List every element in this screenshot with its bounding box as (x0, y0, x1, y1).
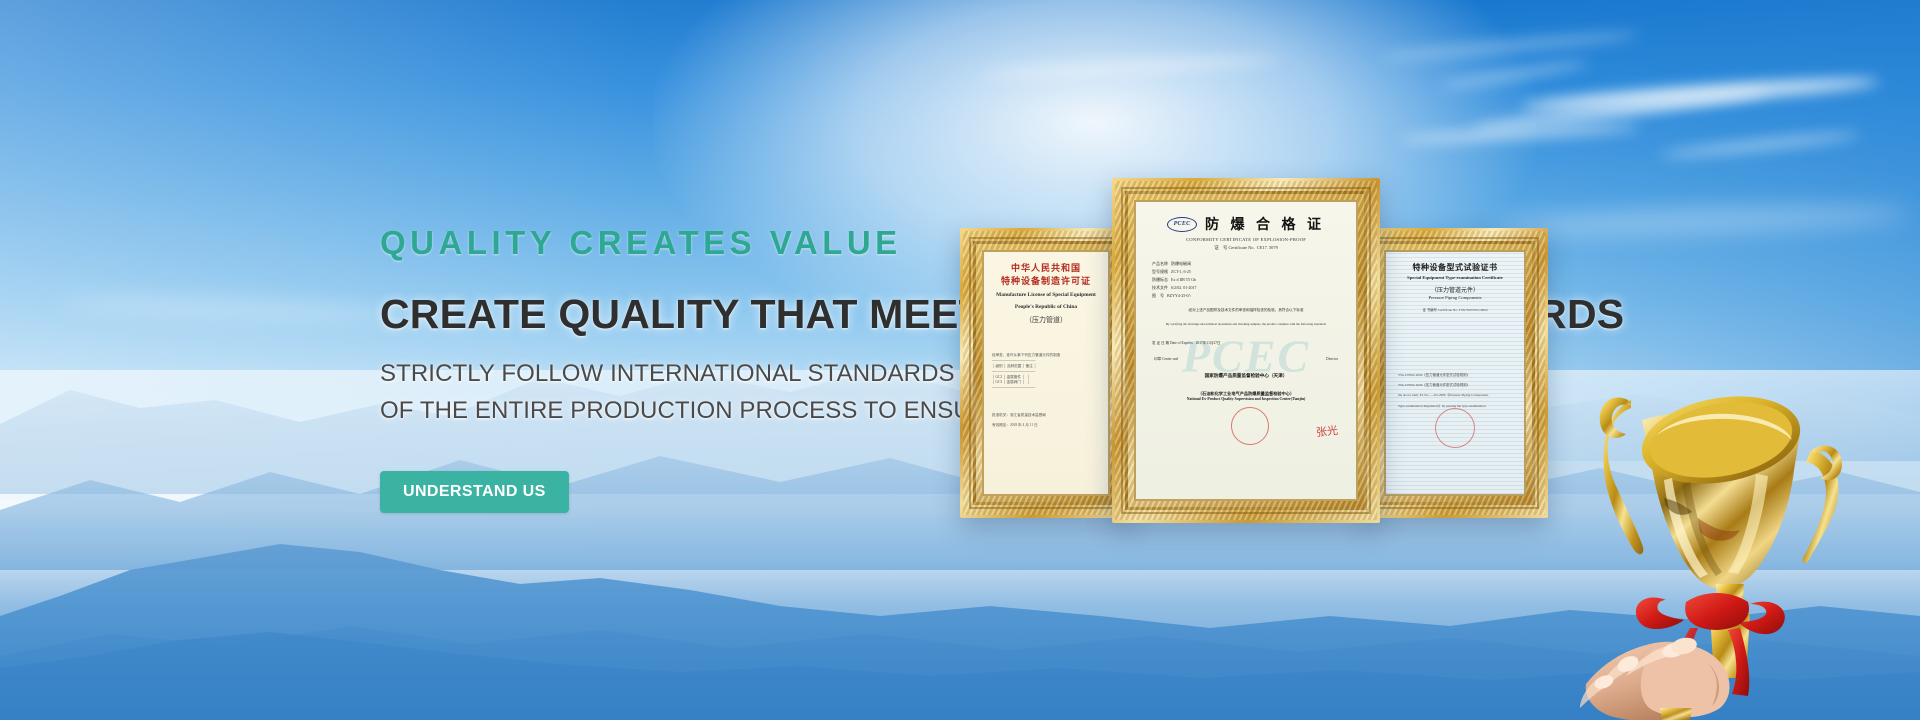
certificate-frame-explosion-proof[interactable]: PCEC 防 爆 合 格 证 CONFORMITY CERTIFICATE OF… (1112, 178, 1380, 523)
field-cn-label: 型号规格 (1152, 269, 1168, 274)
certificate-footer-line2: 有效期至：2018 年 4 月 11 日 (992, 423, 1100, 428)
certificate-header-row: PCEC 防 爆 合 格 证 (1146, 214, 1346, 234)
frame-bevel: 中华人民共和国 特种设备制造许可证 Manufacture License of… (973, 241, 1119, 505)
certificate-field-row: 产品名称 防爆电磁阀 (1152, 260, 1346, 268)
certificate-body-line: TSG D7002-2006《压力管道元件型式试验规则》 (1394, 383, 1516, 388)
certificate-director-label: Director (1326, 357, 1338, 363)
understand-us-button[interactable]: UNDERSTAND US (380, 471, 569, 513)
frame-bevel: PCEC 防 爆 合 格 证 CONFORMITY CERTIFICATE OF… (1125, 191, 1367, 510)
certificate-field-row: 技术文件 6/2/02. 01-2017 (1152, 284, 1346, 292)
field-value: Ex d IIB T5 Gb (1171, 277, 1196, 282)
field-cn-label: 防爆标志 (1152, 277, 1168, 282)
certificate-frame-type-examination[interactable]: 特种设备型式试验证书 Special Equipment Type-examin… (1362, 228, 1548, 518)
certificate-field-row: 防爆标志 Ex d IIB T5 Gb (1152, 276, 1346, 284)
certificate-body-line: the above item, Ex No. ---/02-2006《Press… (1394, 393, 1516, 398)
field-value: 6/2/02. 01-2017 (1171, 285, 1197, 290)
certificate-issuer-cn-line2: （石油和化学工业电气产品防爆质量监督检验中心） (1146, 390, 1346, 397)
certificate-footer-line1: 批准机关：浙江省质量技术监督局 (992, 413, 1100, 418)
certificate-paper: PCEC 防 爆 合 格 证 CONFORMITY CERTIFICATE OF… (1134, 200, 1358, 501)
certificate-number-label: 证 号 Certificate No. (1214, 245, 1254, 250)
field-value: ZCT-1, 6-25 (1171, 269, 1191, 274)
certificate-number-label: 证 书编号 Certificate No. (1422, 308, 1457, 312)
certificate-field-row: 图 号 BZYY4-25-0/\ (1152, 292, 1346, 300)
certificate-body-line: Type-examination Regulation》by passing t… (1394, 404, 1516, 409)
red-seal-icon (1229, 405, 1272, 448)
gold-trophy-icon (1568, 378, 1920, 720)
certificate-cn-title-line2: 特种设备制造许可证 (992, 275, 1100, 288)
certificate-cn-subtitle: （压力管道） (992, 315, 1100, 325)
certificate-number-value: CE17. 5079 (1257, 245, 1278, 250)
certificate-cn-title: 特种设备型式试验证书 (1394, 262, 1516, 274)
certificate-issuer-en: National Ex-Product Quality Supervision … (1146, 397, 1346, 401)
certificate-en-subtitle: Pressure Piping Components (1394, 294, 1516, 302)
certificate-number-value: TSX7J0072011/0004 (1459, 308, 1488, 312)
certificate-fields: 产品名称 防爆电磁阀 型号规格 ZCT-1, 6-25 防爆标志 Ex d II… (1146, 260, 1346, 300)
certificate-en-title-line1: Manufacture License of Special Equipment (992, 291, 1100, 300)
certificate-en-title: CONFORMITY CERTIFICATE OF EXPLOSION-PROO… (1146, 237, 1346, 242)
certificate-declaration-en: By verifying the drawings and technical … (1146, 322, 1346, 327)
certificate-date-row: 发 证 日 期 Date of Express 2017年11月27日 (1146, 341, 1346, 347)
certificate-field-row: 型号规格 ZCT-1, 6-25 (1152, 268, 1346, 276)
certificate-cn-title: 防 爆 合 格 证 (1205, 214, 1325, 234)
certificate-issuer-cn-line1: 国家防爆产品质量监督检验中心（天津） (1146, 372, 1346, 380)
certificate-number-line: 证 书编号 Certificate No. TSX7J0072011/0004 (1394, 308, 1516, 313)
field-cn-label: 技术文件 (1152, 285, 1168, 290)
frame-bevel: 特种设备型式试验证书 Special Equipment Type-examin… (1375, 241, 1535, 505)
certificate-date-label: 发 证 日 期 Date of Express (1152, 341, 1193, 345)
pcec-logo-icon: PCEC (1167, 217, 1197, 232)
certificate-frame-manufacture-license[interactable]: 中华人民共和国 特种设备制造许可证 Manufacture License of… (960, 228, 1132, 518)
certificate-date-value: 2017年11月27日 (1196, 341, 1221, 345)
field-cn-label: 产品名称 (1152, 261, 1168, 266)
certificate-cn-subtitle: （压力管道元件） (1394, 285, 1516, 294)
field-value: 防爆电磁阀 (1171, 261, 1191, 266)
certificate-declaration-cn: 经对上述产品图样及技术文件的审查和抽样检查的检验，其符合以下标准 (1146, 308, 1346, 314)
certificate-en-title-line2: People's Republic of China (992, 303, 1100, 312)
certificate-seal-label: 印章 Center seal (1154, 357, 1178, 363)
certificate-paper: 中华人民共和国 特种设备制造许可证 Manufacture License of… (982, 250, 1110, 496)
certificate-paper: 特种设备型式试验证书 Special Equipment Type-examin… (1384, 250, 1526, 496)
field-cn-label: 图 号 (1152, 293, 1164, 298)
red-signature-icon: 张光 (1315, 422, 1339, 440)
certificate-en-title: Special Equipment Type-examination Certi… (1394, 274, 1516, 282)
red-seal-icon (1433, 406, 1477, 450)
certificate-body-text: 经审查，准许从事下列压力管道元件的制造 ───────────────── │ … (992, 353, 1100, 391)
quality-banner: 中华人民共和国 特种设备制造许可证 Manufacture License of… (0, 0, 1920, 720)
certificate-body-line: TSG D7002-2006《压力管道元件型式试验规则》 (1394, 373, 1516, 378)
field-value: BZYY4-25-0/\ (1167, 293, 1191, 298)
certificate-cn-title-line1: 中华人民共和国 (992, 262, 1100, 275)
certificate-number-line: 证 号 Certificate No. CE17. 5079 (1146, 245, 1346, 251)
